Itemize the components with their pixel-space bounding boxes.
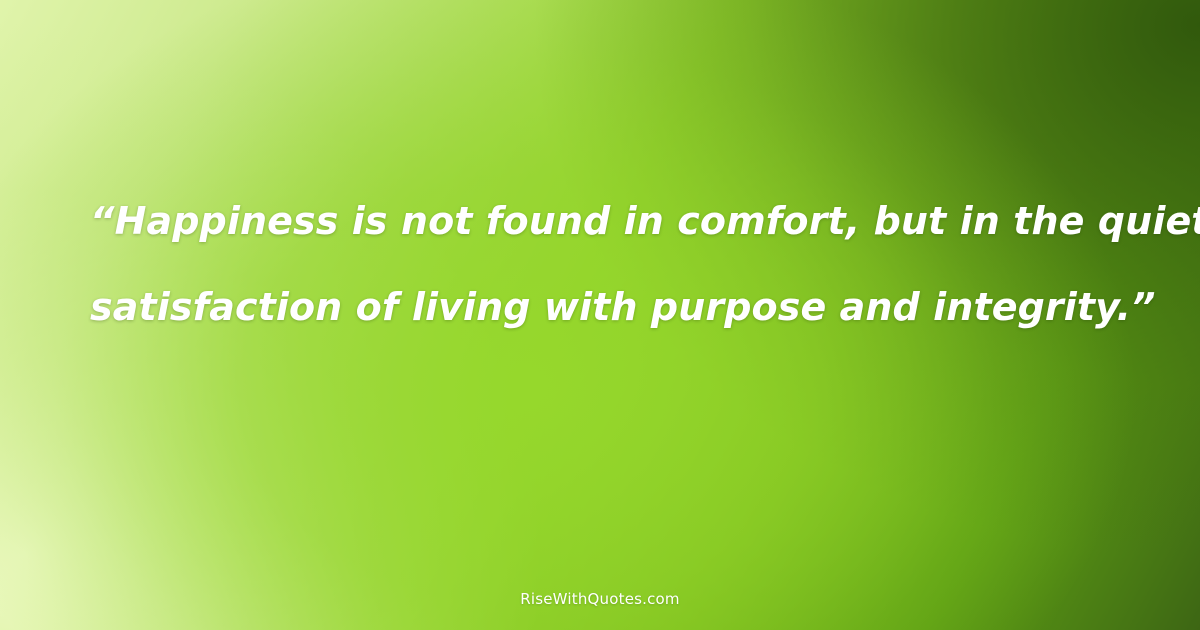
quote-text-block: “Happiness is not found in comfort, but … (0, 178, 1200, 350)
quote-line-1: “Happiness is not found in comfort, but … (90, 178, 1110, 264)
quote-line-2: satisfaction of living with purpose and … (90, 264, 1110, 350)
quote-card: “Happiness is not found in comfort, but … (0, 0, 1200, 630)
site-credit-label: RiseWithQuotes.com (0, 590, 1200, 608)
